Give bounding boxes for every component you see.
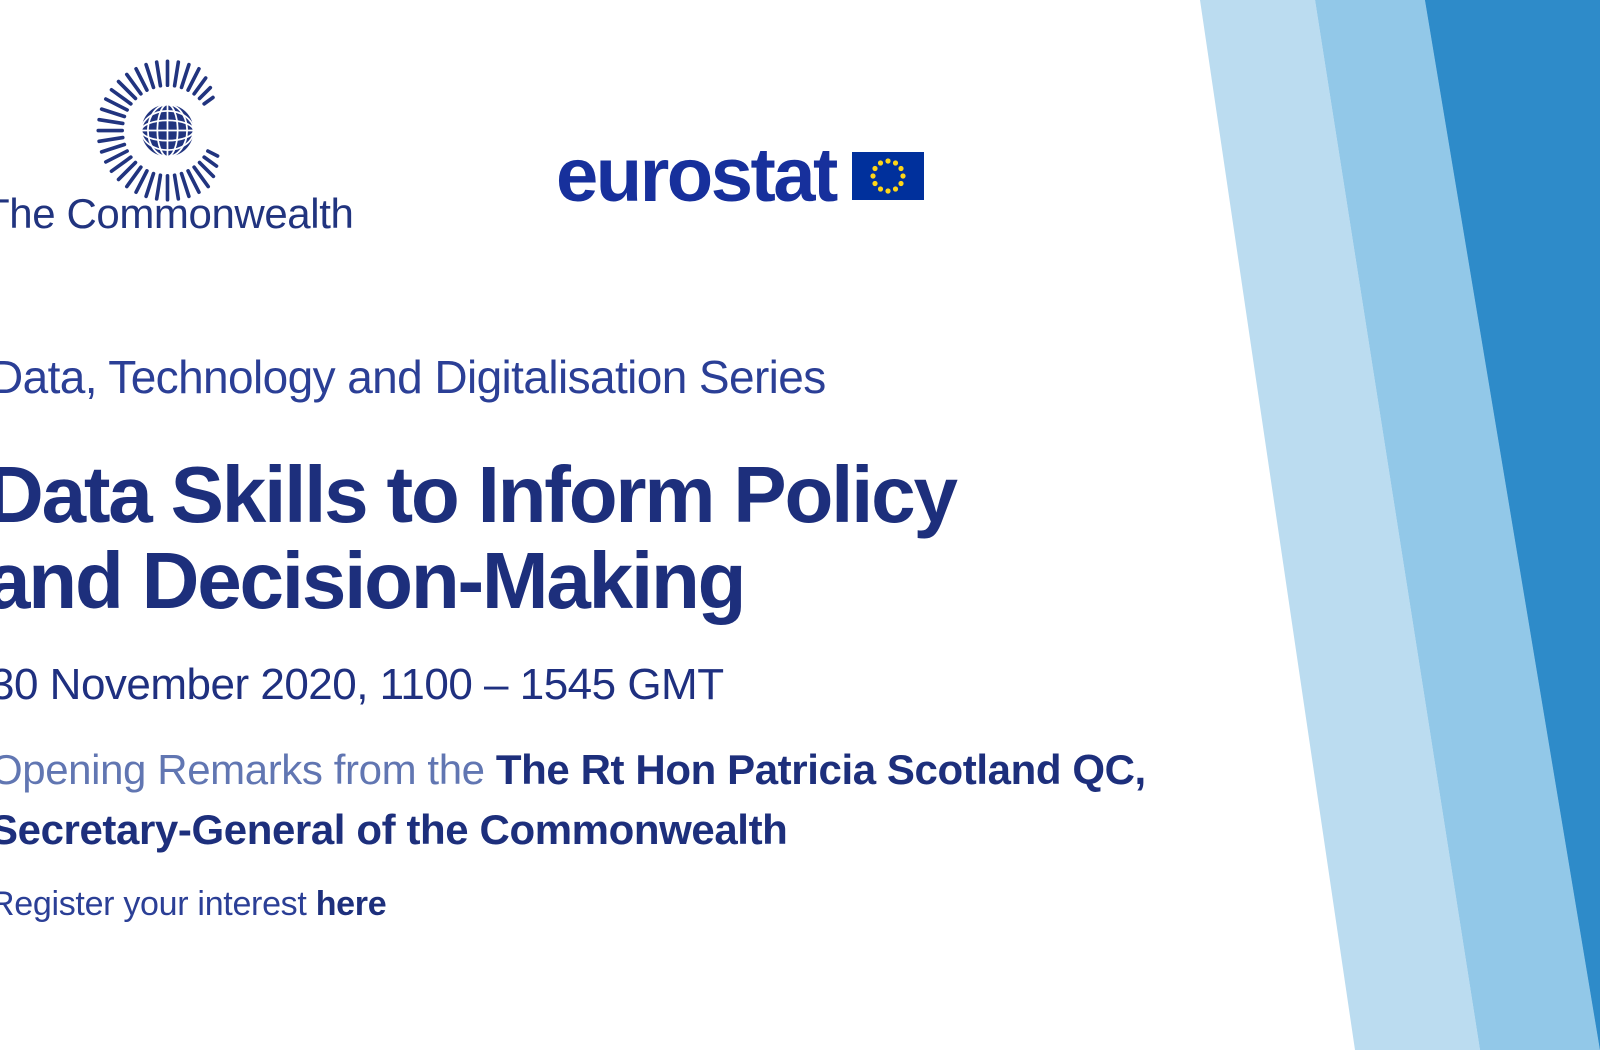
event-datetime: 30 November 2020, 1100 – 1545 GMT xyxy=(0,660,724,710)
register-cta: Register your interest here xyxy=(0,885,386,924)
series-label: Data, Technology and Digitalisation Seri… xyxy=(0,350,826,404)
speaker-block: Opening Remarks from the The Rt Hon Patr… xyxy=(0,740,1146,859)
speaker-prefix: Opening Remarks from the xyxy=(0,746,496,793)
eurostat-wordmark: eurostat xyxy=(556,138,836,214)
diagonal-stripes-decoration xyxy=(1080,0,1600,1050)
eu-flag-icon xyxy=(852,152,924,200)
stripe-medium xyxy=(1315,0,1600,1050)
event-promo-banner: The Commonwealth eurostat xyxy=(0,0,1600,1050)
register-link[interactable]: here xyxy=(316,885,387,923)
stripe-dark xyxy=(1425,0,1600,1050)
commonwealth-wordmark: The Commonwealth xyxy=(0,190,353,238)
speaker-title: Secretary-General of the Commonwealth xyxy=(0,800,1146,860)
title-line-1: Data Skills to Inform Policy xyxy=(0,452,956,538)
page-title: Data Skills to Inform Policy and Decisio… xyxy=(0,452,956,623)
register-text: Register your interest xyxy=(0,885,316,923)
eurostat-logo: eurostat xyxy=(556,138,924,214)
commonwealth-globe-logo xyxy=(95,58,240,203)
stripe-light xyxy=(1200,0,1480,1050)
title-line-2: and Decision-Making xyxy=(0,538,956,624)
stripe-dark-edge xyxy=(1425,0,1600,1050)
speaker-name: The Rt Hon Patricia Scotland QC, xyxy=(496,746,1146,793)
